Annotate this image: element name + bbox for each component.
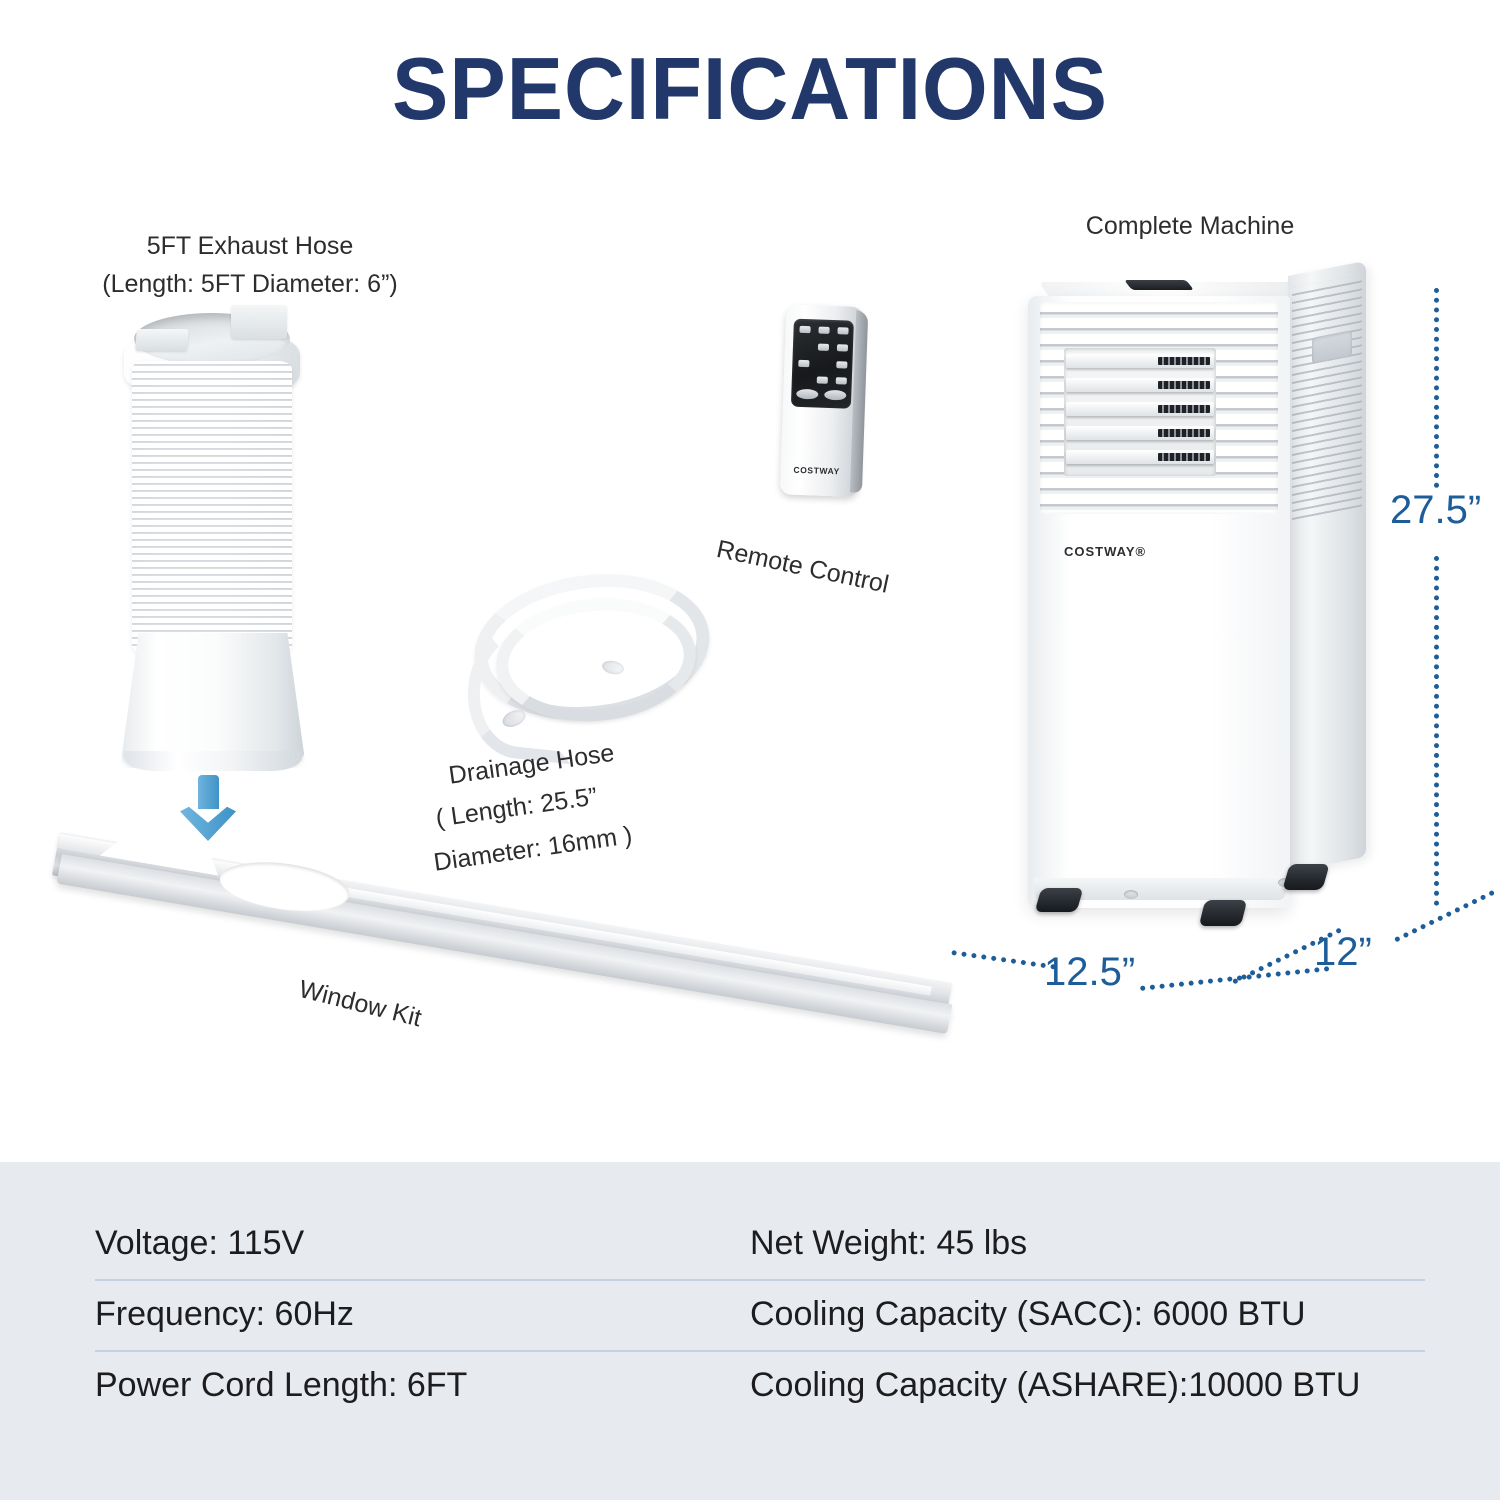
ac-louver-blade [1066, 450, 1214, 464]
ac-caster-front-right [1199, 900, 1247, 926]
arrow-shaft [198, 775, 219, 809]
spec-power-cord-length: Power Cord Length: 6FT [95, 1352, 750, 1421]
ac-louver-blade [1066, 378, 1214, 392]
spec-voltage: Voltage: 115V [95, 1210, 750, 1281]
remote-button-panel [791, 319, 854, 409]
spec-row: Frequency: 60Hz Cooling Capacity (SACC):… [95, 1281, 1425, 1352]
hose-adapter-lip [124, 751, 302, 771]
spec-row: Power Cord Length: 6FT Cooling Capacity … [95, 1352, 1425, 1421]
remote-button-down [818, 344, 829, 351]
window-kit-bottom-rail [56, 854, 952, 1034]
remote-button-timer [796, 389, 818, 400]
ac-louver-blade [1066, 426, 1214, 440]
drainage-hose-image [462, 565, 702, 745]
height-dimension-line-upper [1434, 288, 1439, 488]
specifications-table: Voltage: 115V Net Weight: 45 lbs Frequen… [95, 1210, 1425, 1421]
spec-cooling-ashare: Cooling Capacity (ASHARE):10000 BTU [750, 1352, 1425, 1421]
height-dimension-label: 27.5” [1390, 488, 1481, 533]
exhaust-hose-label-line1: 5FT Exhaust Hose [60, 232, 440, 261]
remote-button-power [824, 390, 846, 401]
remote-button-cool [837, 327, 848, 334]
drainage-hose-label-line2: ( Length: 25.5” [434, 782, 599, 833]
remote-button-fan [836, 361, 847, 368]
height-dimension-line-lower [1434, 556, 1439, 906]
remote-button-high [799, 326, 810, 333]
depth-dimension-label: 12” [1314, 930, 1372, 975]
remote-control-image: COSTWAY [780, 304, 883, 502]
spec-net-weight: Net Weight: 45 lbs [750, 1210, 1425, 1281]
spec-frequency: Frequency: 60Hz [95, 1281, 750, 1352]
ac-louver-blade [1066, 354, 1214, 368]
ac-side-vent-grille [1292, 274, 1362, 524]
product-spec-page: SPECIFICATIONS 5FT Exhaust Hose (Length:… [0, 0, 1500, 1500]
hose-corrugated-body [132, 361, 292, 653]
ac-air-outlet [1064, 348, 1216, 476]
remote-button-sleep [817, 376, 828, 383]
width-dimension-label: 12.5” [1044, 950, 1135, 995]
ac-base-screw [1124, 890, 1138, 899]
remote-button-low [798, 360, 809, 367]
spec-row: Voltage: 115V Net Weight: 45 lbs [95, 1210, 1425, 1281]
remote-button-up [818, 327, 829, 334]
ac-caster-front-left [1035, 888, 1084, 912]
depth-dimension-line-upper [1394, 890, 1495, 943]
remote-control-label: Remote Control [714, 535, 891, 600]
complete-machine-label: Complete Machine [1040, 212, 1340, 241]
remote-button-speed [836, 377, 847, 384]
ac-brand-logo: COSTWAY® [1064, 544, 1184, 559]
portable-air-conditioner-image: COSTWAY® [1020, 282, 1390, 942]
hose-tab-left [135, 329, 189, 351]
hose-tab-right [231, 305, 287, 339]
width-dimension-line-left [951, 950, 1056, 970]
specifications-panel: Voltage: 115V Net Weight: 45 lbs Frequen… [0, 1162, 1500, 1500]
hose-adapter [120, 633, 306, 768]
exhaust-hose-image [118, 303, 313, 773]
ac-caster-rear-right [1282, 864, 1329, 890]
ac-top-control-panel [1124, 280, 1194, 290]
ac-louver-blade [1066, 402, 1214, 416]
spec-cooling-sacc: Cooling Capacity (SACC): 6000 BTU [750, 1281, 1425, 1352]
page-title: SPECIFICATIONS [30, 38, 1470, 140]
exhaust-hose-label-line2: (Length: 5FT Diameter: 6”) [45, 270, 455, 299]
remote-button-dry [837, 344, 848, 351]
